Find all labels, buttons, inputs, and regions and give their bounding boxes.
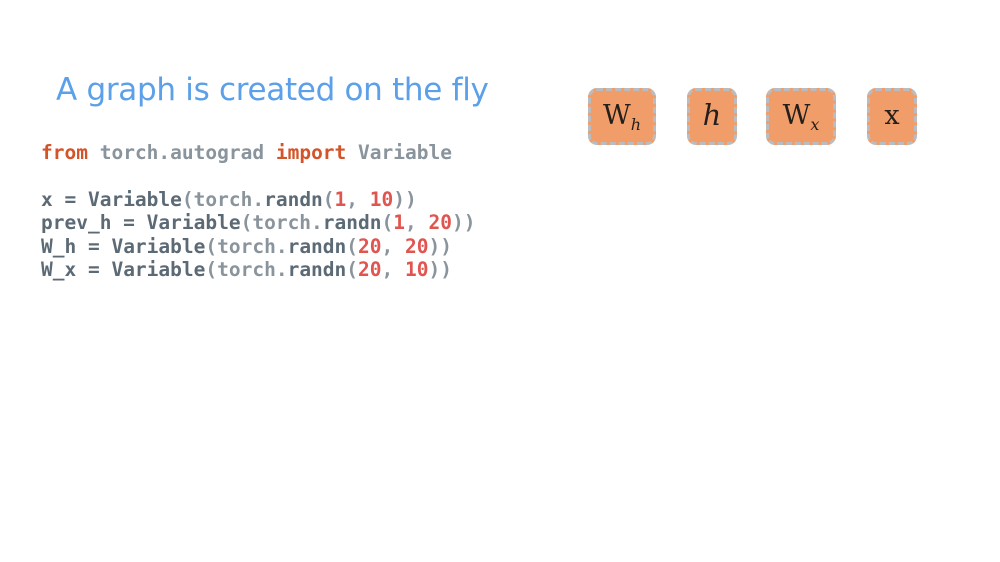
code-line-x-line: x = Variable(torch.randn(1, 10)) xyxy=(41,188,475,212)
code-token: , xyxy=(382,258,405,281)
code-token: 20 xyxy=(405,235,428,258)
graph-node-wh[interactable]: Wh xyxy=(588,88,656,145)
code-token: 1 xyxy=(335,188,347,211)
code-token: randn xyxy=(264,188,323,211)
code-token: ( xyxy=(241,211,253,234)
node-label-base: x xyxy=(884,100,899,131)
graph-node-h[interactable]: h xyxy=(687,88,737,145)
code-token: prev_h = xyxy=(41,211,147,234)
code-token: )) xyxy=(428,258,451,281)
code-token: ( xyxy=(182,188,194,211)
node-label-subscript: h xyxy=(631,115,641,134)
graph-node-label: x xyxy=(884,102,899,129)
code-line-w-x-line: W_x = Variable(torch.randn(20, 10)) xyxy=(41,258,475,282)
node-label-base: h xyxy=(703,98,722,132)
graph-node-label: Wh xyxy=(603,102,641,129)
code-token: ( xyxy=(205,235,217,258)
code-token: randn xyxy=(288,235,347,258)
code-block: from torch.autograd import Variablex = V… xyxy=(41,141,475,282)
code-token: Variable xyxy=(358,141,452,164)
code-token: ( xyxy=(323,188,335,211)
code-token: 20 xyxy=(428,211,451,234)
code-line-w-h-line: W_h = Variable(torch.randn(20, 20)) xyxy=(41,235,475,259)
code-token: ( xyxy=(205,258,217,281)
code-token: )) xyxy=(452,211,475,234)
slide-canvas: A graph is created on the fly from torch… xyxy=(0,0,1000,562)
code-token: from xyxy=(41,141,88,164)
code-line-import-line: from torch.autograd import Variable xyxy=(41,141,475,165)
code-token: ( xyxy=(382,211,394,234)
code-token: )) xyxy=(428,235,451,258)
code-token: 20 xyxy=(358,235,381,258)
graph-node-wx[interactable]: Wx xyxy=(766,88,836,145)
code-token: randn xyxy=(323,211,382,234)
graph-node-label: Wx xyxy=(783,102,820,129)
code-token: torch. xyxy=(217,258,287,281)
code-token: 10 xyxy=(370,188,393,211)
code-token: W_x = xyxy=(41,258,111,281)
code-token xyxy=(264,141,276,164)
code-token: , xyxy=(405,211,428,234)
code-token: Variable xyxy=(147,211,241,234)
node-label-base: W xyxy=(783,100,811,131)
code-token: x = xyxy=(41,188,88,211)
code-token: Variable xyxy=(88,188,182,211)
code-token: 10 xyxy=(405,258,428,281)
page-title: A graph is created on the fly xyxy=(56,72,489,108)
code-token: , xyxy=(346,188,369,211)
graph-node-x[interactable]: x xyxy=(867,88,917,145)
code-line-prev-h-line: prev_h = Variable(torch.randn(1, 20)) xyxy=(41,211,475,235)
code-token: import xyxy=(276,141,346,164)
node-label-base: W xyxy=(603,100,631,131)
code-line-blank-line xyxy=(41,165,475,188)
code-token: randn xyxy=(288,258,347,281)
code-token: W_h = xyxy=(41,235,111,258)
code-token: Variable xyxy=(111,235,205,258)
code-token: Variable xyxy=(111,258,205,281)
node-label-subscript: x xyxy=(810,115,819,134)
code-token xyxy=(346,141,358,164)
code-token: torch. xyxy=(194,188,264,211)
code-token: , xyxy=(382,235,405,258)
graph-node-label: h xyxy=(703,101,722,130)
code-token xyxy=(88,141,100,164)
code-token: 1 xyxy=(393,211,405,234)
code-token: torch. xyxy=(252,211,322,234)
code-token: torch.autograd xyxy=(100,141,264,164)
code-token: ( xyxy=(346,235,358,258)
code-token: ( xyxy=(346,258,358,281)
code-token: 20 xyxy=(358,258,381,281)
code-token: )) xyxy=(393,188,416,211)
code-token: torch. xyxy=(217,235,287,258)
